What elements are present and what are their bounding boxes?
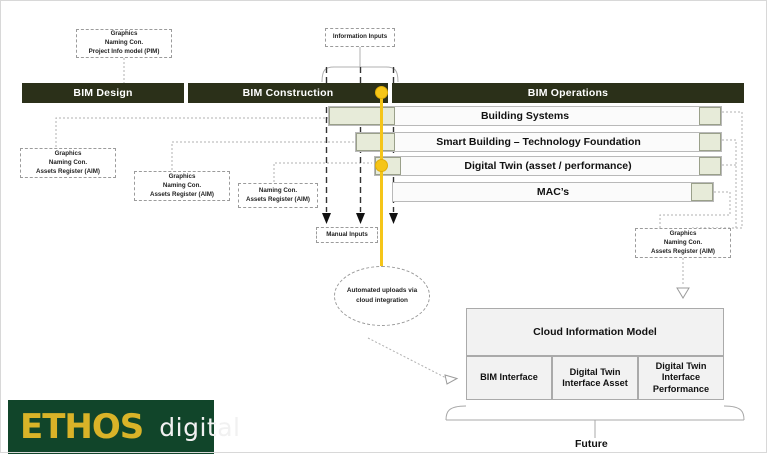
phase-bim-operations[interactable]: BIM Operations bbox=[392, 83, 744, 103]
edge-bar2-to-aimright bbox=[722, 140, 736, 228]
note-manual-inputs[interactable]: Manual Inputs bbox=[316, 227, 378, 243]
future-label: Future bbox=[575, 438, 608, 450]
note-line-1: Manual Inputs bbox=[326, 231, 368, 240]
ellipse-line-1: Automated uploads via bbox=[347, 286, 417, 296]
phase-label: BIM Construction bbox=[243, 87, 334, 99]
note-line-3: Project Info model (PIM) bbox=[89, 48, 160, 57]
manual-input-arrowheads bbox=[322, 213, 398, 224]
node-automated-uploads[interactable]: Automated uploads via cloud integration bbox=[334, 266, 430, 326]
phase-label: BIM Design bbox=[73, 87, 132, 99]
cell-label: Digital Twin Interface Performance bbox=[641, 361, 721, 396]
note-assets-register-right[interactable]: Graphics Naming Con. Assets Register (AI… bbox=[635, 228, 731, 258]
note-assets-register-mid[interactable]: Graphics Naming Con. Assets Register (AI… bbox=[134, 171, 230, 201]
cloud-model-cell-dt-performance[interactable]: Digital Twin Interface Performance bbox=[638, 356, 724, 400]
capability-bar-building-systems[interactable]: Building Systems bbox=[328, 106, 722, 126]
cloud-model-title: Cloud Information Model bbox=[466, 308, 724, 356]
note-line-2: Naming Con. bbox=[49, 159, 87, 168]
integration-node-digital-twin[interactable] bbox=[375, 159, 388, 172]
capability-bar-macs[interactable]: MAC’s bbox=[392, 182, 714, 202]
cloud-information-model: Cloud Information Model BIM Interface Di… bbox=[466, 308, 724, 406]
edge-ellipse-to-cim bbox=[368, 338, 452, 381]
phase-label: BIM Operations bbox=[528, 87, 608, 99]
cell-label: Digital Twin Interface Asset bbox=[555, 367, 635, 390]
ellipse-line-2: cloud integration bbox=[347, 296, 417, 306]
phase-bim-design[interactable]: BIM Design bbox=[22, 83, 184, 103]
logo-suffix: digital bbox=[159, 415, 240, 440]
note-line-1: Graphics bbox=[169, 173, 196, 182]
cloud-model-cell-dt-asset[interactable]: Digital Twin Interface Asset bbox=[552, 356, 638, 400]
note-line-3: Assets Register (AIM) bbox=[150, 191, 214, 200]
note-line-2: Naming Con. bbox=[664, 239, 702, 248]
note-information-inputs[interactable]: Information Inputs bbox=[325, 28, 395, 47]
capability-bar-digital-twin[interactable]: Digital Twin (asset / performance) bbox=[374, 156, 722, 176]
note-line-3: Assets Register (AIM) bbox=[651, 248, 715, 257]
note-assets-register-left[interactable]: Graphics Naming Con. Assets Register (AI… bbox=[20, 148, 116, 178]
brand-logo: ETHOS digital bbox=[8, 400, 214, 454]
note-line-3: Assets Register (AIM) bbox=[36, 168, 100, 177]
capability-bar-label: Building Systems bbox=[329, 107, 721, 125]
diagram-canvas: BIM Design BIM Construction BIM Operatio… bbox=[0, 0, 768, 454]
note-line-1: Graphics bbox=[111, 30, 138, 39]
note-line-1: Graphics bbox=[55, 150, 82, 159]
note-line-1: Graphics bbox=[670, 230, 697, 239]
edge-infoinputs-brace bbox=[322, 67, 398, 82]
integration-node-construction[interactable] bbox=[375, 86, 388, 99]
note-line-1: Information Inputs bbox=[333, 33, 387, 42]
capability-bar-label: MAC’s bbox=[393, 183, 713, 201]
cloud-model-cell-bim-interface[interactable]: BIM Interface bbox=[466, 356, 552, 400]
capability-bar-label: Digital Twin (asset / performance) bbox=[375, 157, 721, 175]
note-line-2: Naming Con. bbox=[163, 182, 201, 191]
cell-label: BIM Interface bbox=[480, 372, 538, 384]
brace-right bbox=[724, 406, 744, 420]
note-line-2: Assets Register (AIM) bbox=[246, 196, 310, 205]
note-line-2: Naming Con. bbox=[105, 39, 143, 48]
note-assets-register-inner[interactable]: Naming Con. Assets Register (AIM) bbox=[238, 183, 318, 208]
note-line-1: Naming Con. bbox=[259, 187, 297, 196]
logo-wordmark: ETHOS bbox=[20, 410, 143, 444]
note-project-info-model[interactable]: Graphics Naming Con. Project Info model … bbox=[76, 29, 172, 58]
phase-bim-construction[interactable]: BIM Construction bbox=[188, 83, 388, 103]
capability-bar-label: Smart Building – Technology Foundation bbox=[356, 133, 721, 151]
integration-line-upper bbox=[380, 90, 383, 270]
brace-left bbox=[446, 406, 466, 420]
capability-bar-smart-building[interactable]: Smart Building – Technology Foundation bbox=[355, 132, 722, 152]
